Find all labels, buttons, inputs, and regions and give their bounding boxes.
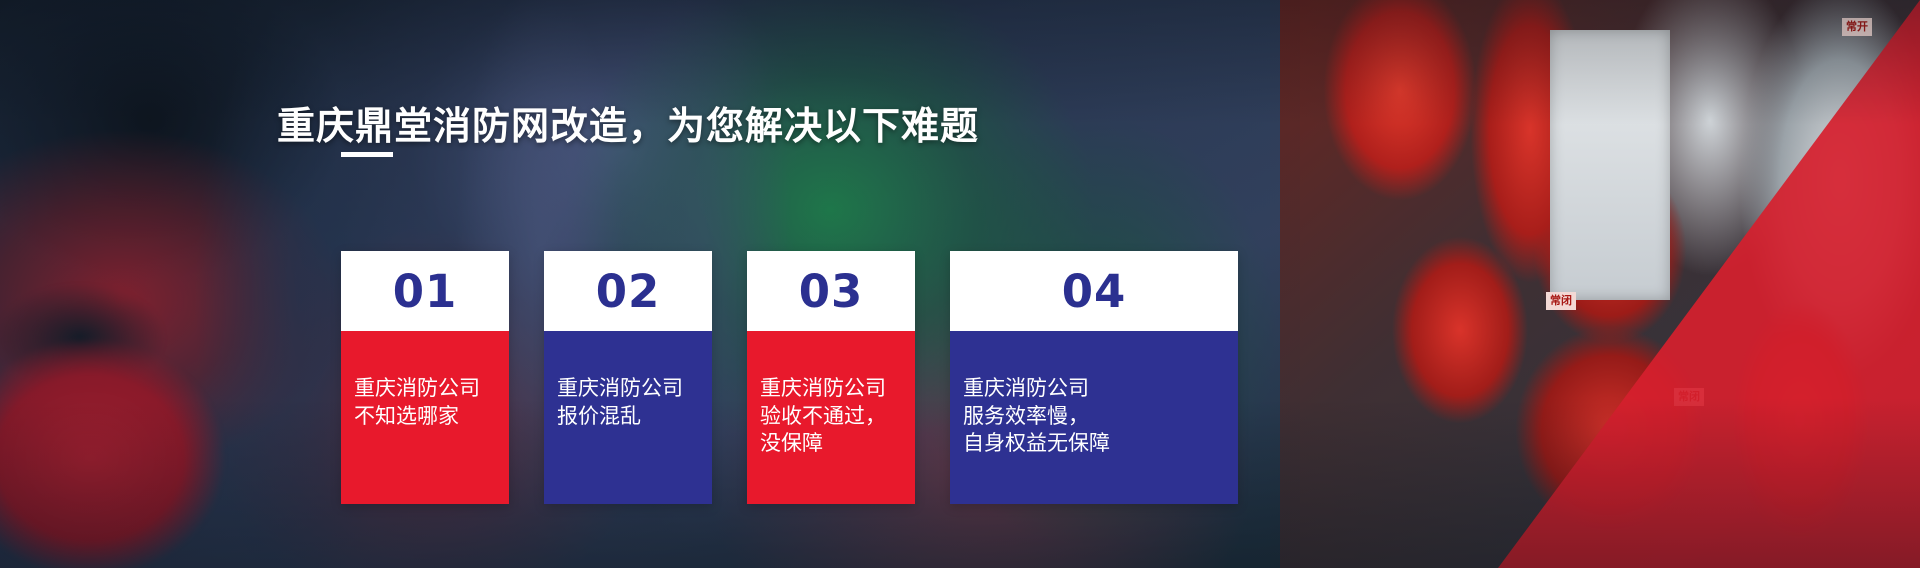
title-underline-rule xyxy=(341,152,393,157)
card-number-header: 03 xyxy=(747,251,915,331)
card-number: 03 xyxy=(799,269,864,314)
problem-card-list: 01 重庆消防公司 不知选哪家 02 重庆消防公司 报价混乱 03 xyxy=(341,251,1238,504)
card-body: 重庆消防公司 验收不通过， 没保障 xyxy=(747,331,915,504)
card-text: 重庆消防公司 验收不通过， 没保障 xyxy=(760,375,902,458)
card-number-header: 01 xyxy=(341,251,509,331)
card-text: 重庆消防公司 服务效率慢， 自身权益无保障 xyxy=(963,375,1225,458)
card-body: 重庆消防公司 服务效率慢， 自身权益无保障 xyxy=(950,331,1238,504)
card-body: 重庆消防公司 报价混乱 xyxy=(544,331,712,504)
card-number: 01 xyxy=(393,269,458,314)
card-number-header: 04 xyxy=(950,251,1238,331)
banner-title: 重庆鼎堂消防网改造，为您解决以下难题 xyxy=(277,95,979,150)
card-number: 02 xyxy=(596,269,661,314)
card-text: 重庆消防公司 不知选哪家 xyxy=(354,375,496,430)
problem-card-01[interactable]: 01 重庆消防公司 不知选哪家 xyxy=(341,251,509,504)
banner-content: 重庆鼎堂消防网改造，为您解决以下难题 01 重庆消防公司 不知选哪家 02 重庆… xyxy=(0,0,1920,568)
card-text: 重庆消防公司 报价混乱 xyxy=(557,375,699,430)
promo-banner: 常开 常闭 常闭 重庆鼎堂消防网改造，为您解决以下难题 01 重庆消防公司 不知… xyxy=(0,0,1920,568)
card-number-header: 02 xyxy=(544,251,712,331)
problem-card-02[interactable]: 02 重庆消防公司 报价混乱 xyxy=(544,251,712,504)
problem-card-03[interactable]: 03 重庆消防公司 验收不通过， 没保障 xyxy=(747,251,915,504)
card-body: 重庆消防公司 不知选哪家 xyxy=(341,331,509,504)
problem-card-04[interactable]: 04 重庆消防公司 服务效率慢， 自身权益无保障 xyxy=(950,251,1238,504)
card-number: 04 xyxy=(1062,269,1127,314)
